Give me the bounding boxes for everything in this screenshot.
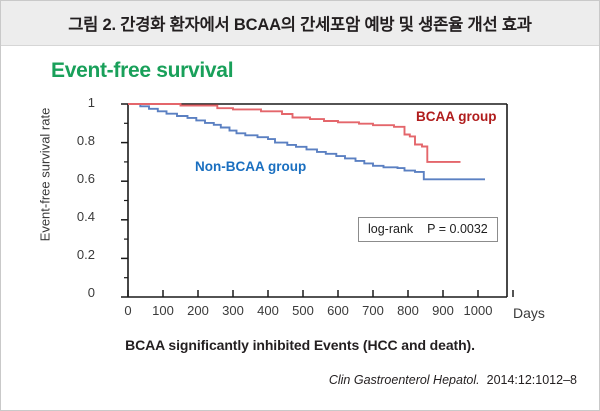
page-title: 그림 2. 간경화 환자에서 BCAA의 간세포암 예방 및 생존율 개선 효과	[68, 11, 532, 35]
legend-bcaa-group: BCAA group	[416, 109, 497, 124]
plot-area: Event-free survival rate 1 0.8 0.6 0.4 0…	[1, 47, 599, 337]
log-rank-stat-box: log-rankP = 0.0032	[358, 217, 498, 242]
citation: Clin Gastroenterol Hepatol.2014:12:1012–…	[1, 373, 577, 387]
kaplan-meier-plot	[1, 47, 599, 337]
figure-body: Event-free survival Event-free survival …	[1, 47, 599, 410]
figure-caption: BCAA significantly inhibited Events (HCC…	[1, 337, 599, 353]
curve-bcaa-group	[128, 104, 461, 162]
legend-non-bcaa-group: Non-BCAA group	[195, 159, 306, 174]
header-bar: 그림 2. 간경화 환자에서 BCAA의 간세포암 예방 및 생존율 개선 효과	[1, 1, 599, 46]
citation-reference: 2014:12:1012–8	[487, 373, 577, 387]
figure-page: 그림 2. 간경화 환자에서 BCAA의 간세포암 예방 및 생존율 개선 효과…	[0, 0, 600, 411]
x-ticks	[128, 290, 513, 297]
log-rank-label: log-rank	[368, 222, 413, 236]
axis-frame	[128, 104, 507, 297]
p-value: P = 0.0032	[427, 222, 488, 236]
citation-journal: Clin Gastroenterol Hepatol.	[329, 373, 480, 387]
